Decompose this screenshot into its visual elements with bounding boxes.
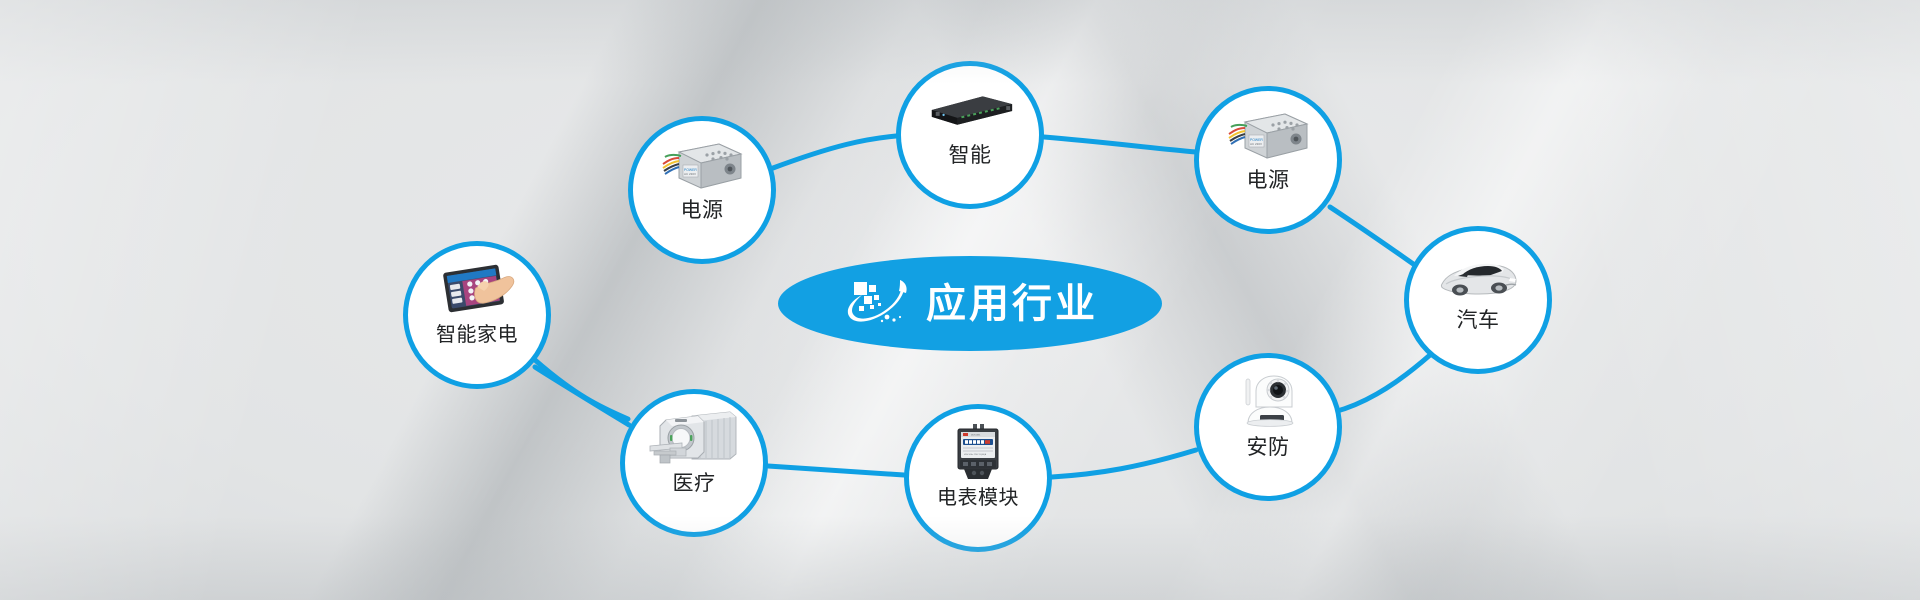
svg-text:AC 230V: AC 230V xyxy=(1250,142,1262,146)
link-car-security xyxy=(1334,355,1430,412)
center-badge: 应用行业 xyxy=(778,256,1162,351)
pc-power-supply-icon: POWER AC 230V xyxy=(1222,105,1314,167)
svg-text:DDS1531: DDS1531 xyxy=(971,435,981,437)
node-power-supply-right[interactable]: POWER AC 230V 电源 xyxy=(1194,86,1342,234)
node-label: 医疗 xyxy=(673,472,716,495)
electric-meter-icon: DDS1531 kWh 50Hz 220V 10(40)A xyxy=(932,423,1024,485)
node-smart[interactable]: 智能 xyxy=(896,61,1044,209)
svg-text:AC 230V: AC 230V xyxy=(684,172,696,176)
node-label: 汽车 xyxy=(1457,309,1500,332)
link-smarthome-power xyxy=(535,360,628,419)
application-industries-banner: 智能家电 POWER AC 230V xyxy=(0,0,1920,600)
svg-text:kWh 50Hz 220V 10(40)A: kWh 50Hz 220V 10(40)A xyxy=(964,453,987,456)
pc-power-supply-icon: POWER AC 230V xyxy=(656,135,748,197)
ct-scanner-icon xyxy=(648,408,740,470)
node-security[interactable]: 安防 xyxy=(1194,353,1342,501)
node-smart-home-appliance[interactable]: 智能家电 xyxy=(403,241,551,389)
node-label: 电源 xyxy=(681,199,724,222)
node-power-supply-left[interactable]: POWER AC 230V 电源 xyxy=(628,116,776,264)
rack-server-icon xyxy=(924,80,1016,142)
node-medical[interactable]: 医疗 xyxy=(620,389,768,537)
center-badge-label: 应用行业 xyxy=(926,284,1098,324)
node-label: 安防 xyxy=(1247,436,1290,459)
node-label: 智能家电 xyxy=(436,324,518,346)
link-meter-medical xyxy=(768,466,904,475)
node-automotive[interactable]: 汽车 xyxy=(1404,226,1552,374)
tablet-touch-hand-icon xyxy=(431,260,523,322)
ip-camera-icon xyxy=(1222,372,1314,434)
sports-car-icon xyxy=(1432,245,1524,307)
node-label: 智能 xyxy=(949,144,992,167)
link-security-meter xyxy=(1052,450,1196,477)
node-label: 电表模块 xyxy=(937,487,1019,509)
link-smart-powerr xyxy=(1044,137,1196,152)
orbit-pixel-swoosh-logo-icon xyxy=(842,273,912,335)
link-power-smart xyxy=(773,136,896,168)
node-meter-module[interactable]: DDS1531 kWh 50Hz 220V 10(40)A xyxy=(904,404,1052,552)
node-label: 电源 xyxy=(1247,169,1290,192)
link-medical-smarth xyxy=(535,367,629,425)
